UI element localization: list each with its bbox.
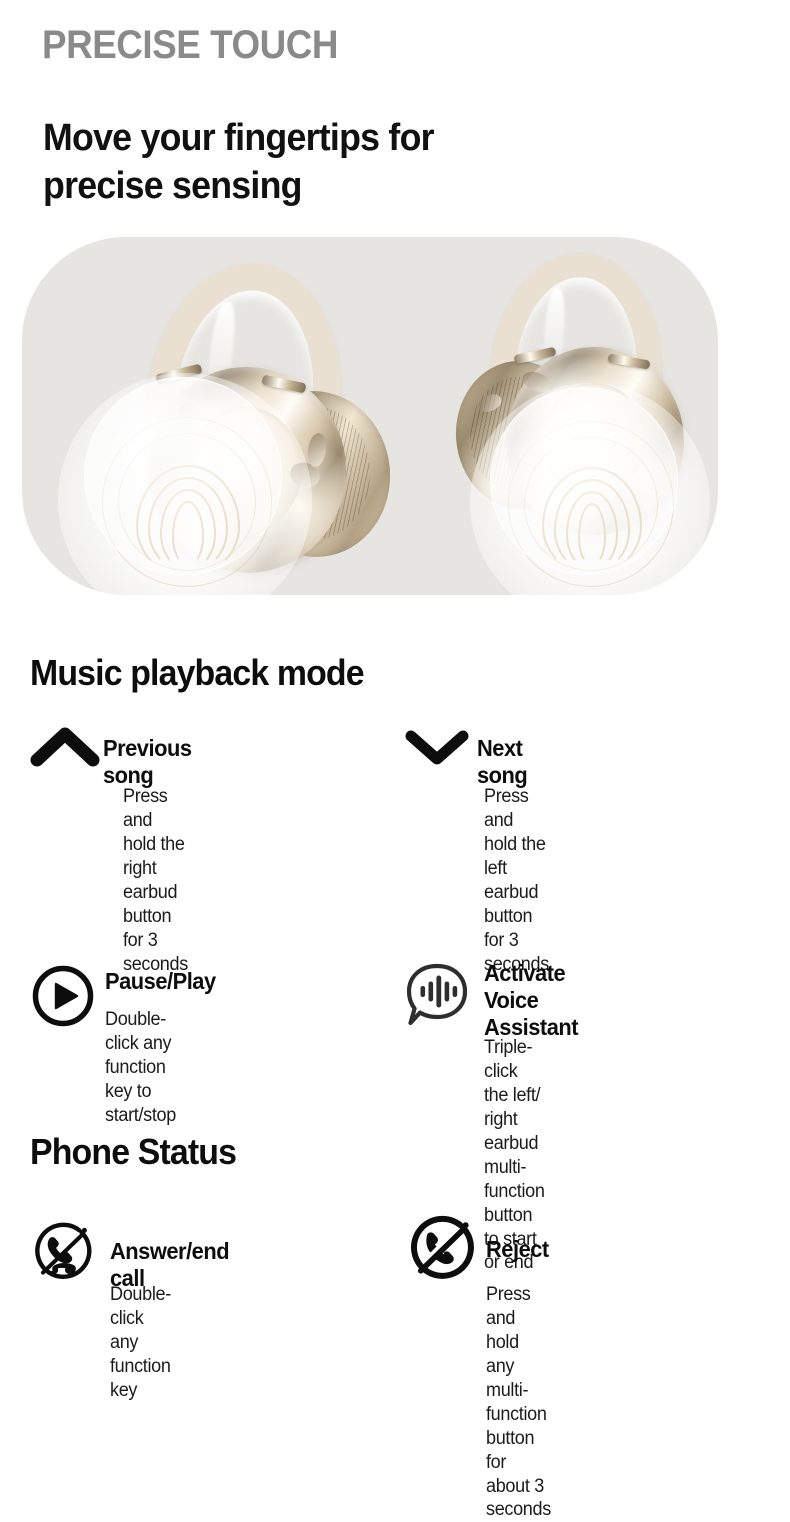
page-title: Move your fingertips for precise sensing (43, 115, 434, 209)
feature-title: Previous song (103, 735, 191, 789)
voice-assistant-icon (403, 961, 471, 1031)
product-illustration (22, 237, 718, 595)
touch-bubble-left (84, 377, 282, 575)
touch-bubble-right (490, 387, 678, 575)
section-title-music-playback-mode: Music playback mode (30, 652, 364, 694)
feature-description: Double-click any function key to start/s… (105, 1008, 176, 1128)
feature-description: Double-click any function key (110, 1283, 171, 1403)
reject-call-icon (404, 1212, 480, 1288)
feature-description: Press and hold the left earbud button fo… (484, 785, 549, 977)
chevron-up-icon (30, 724, 100, 768)
feature-title: Next song (477, 735, 527, 789)
feature-description: Press and hold any multi- function butto… (486, 1283, 551, 1522)
play-circle-icon (30, 963, 96, 1029)
hero-product-panel (22, 237, 718, 595)
answer-end-call-icon (28, 1218, 98, 1288)
feature-title: Reject (486, 1236, 549, 1263)
eyebrow-label: PRECISE TOUCH (42, 23, 338, 68)
chevron-down-icon (404, 726, 470, 768)
feature-description: Press and hold the right earbud button f… (123, 785, 188, 977)
feature-title: Pause/Play (105, 968, 216, 995)
section-title-phone-status: Phone Status (30, 1131, 236, 1173)
feature-title: Activate Voice Assistant (484, 960, 578, 1041)
